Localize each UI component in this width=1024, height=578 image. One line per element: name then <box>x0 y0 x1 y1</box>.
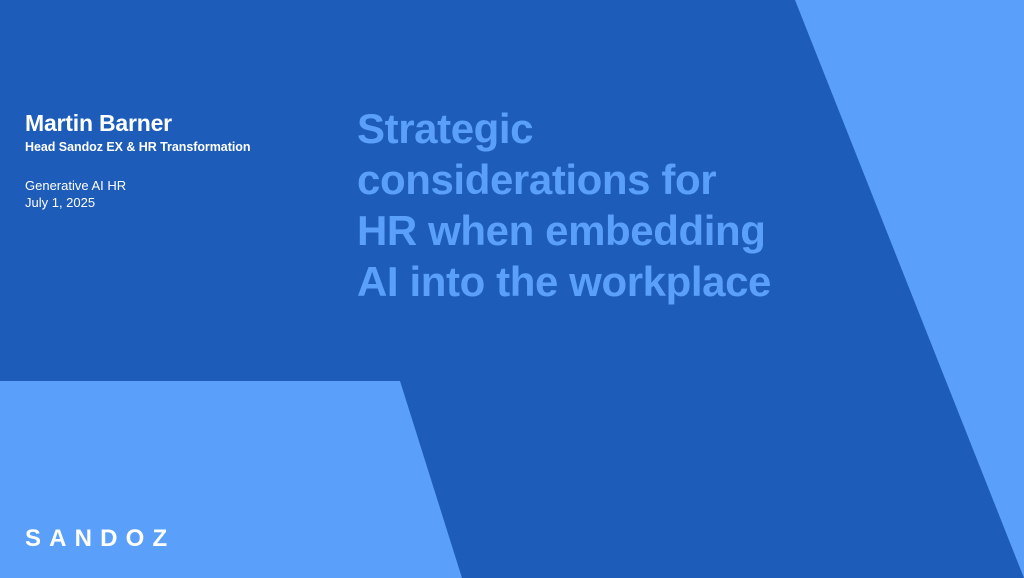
sandoz-logo: SANDOZ <box>25 527 175 551</box>
page-title: Strategic considerations for HR when emb… <box>357 103 837 307</box>
presenter-block: Martin Barner Head Sandoz EX & HR Transf… <box>25 110 325 211</box>
presenter-meta-topic: Generative AI HR <box>25 178 325 195</box>
title-line-3: HR when embedding <box>357 205 837 256</box>
title-line-1: Strategic <box>357 103 837 154</box>
presenter-name: Martin Barner <box>25 110 325 136</box>
title-line-2: considerations for <box>357 154 837 205</box>
presenter-meta-date: July 1, 2025 <box>25 195 325 212</box>
presenter-meta: Generative AI HR July 1, 2025 <box>25 178 325 211</box>
title-line-4: AI into the workplace <box>357 256 837 307</box>
title-slide: Martin Barner Head Sandoz EX & HR Transf… <box>0 0 1024 578</box>
presenter-role: Head Sandoz EX & HR Transformation <box>25 140 325 156</box>
